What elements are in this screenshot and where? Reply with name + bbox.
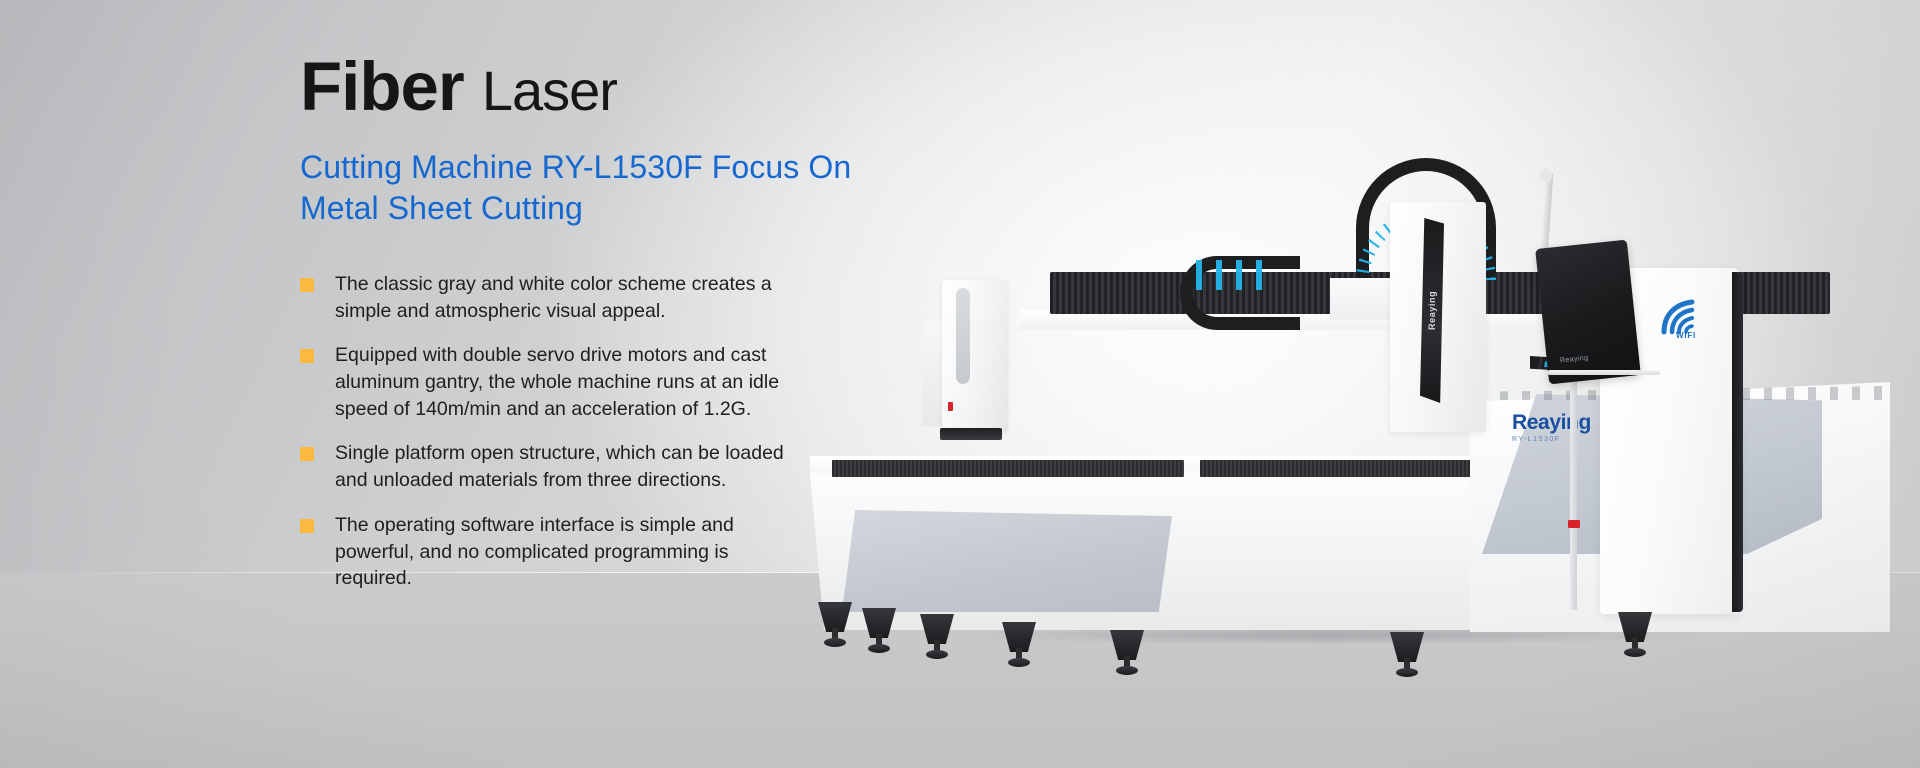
wifi-label: WIFI	[1676, 331, 1696, 340]
page-title: Fiber Laser	[300, 52, 900, 121]
machine-pendant-crossbar	[1548, 370, 1660, 375]
list-item-label: Equipped with double servo drive motors …	[335, 342, 805, 422]
machine-pendant-pole-cap	[1540, 168, 1552, 182]
machine-bellows-cover-left	[1050, 272, 1600, 314]
machine-bed-rail-right	[1200, 460, 1510, 477]
bullet-square-icon	[300, 519, 314, 533]
machine-control-cabinet-edge	[1732, 272, 1743, 612]
machine-foot	[920, 614, 954, 660]
machine-estop-indicator	[1568, 520, 1580, 528]
machine-pendant-arm	[1570, 372, 1577, 610]
bullet-square-icon	[300, 447, 314, 461]
machine-foot	[1110, 630, 1144, 676]
bullet-square-icon	[300, 349, 314, 363]
machine-bed-side-panel	[842, 510, 1172, 612]
product-image-fiber-laser-cutting-machine: Reaying RY-L1530F Reaying	[770, 160, 1850, 630]
machine-foot	[1390, 632, 1424, 678]
title-light: Laser	[482, 59, 617, 122]
machine-foot	[818, 602, 852, 648]
list-item-label: Single platform open structure, which ca…	[335, 440, 805, 493]
machine-tower-brand-text: Reaying	[1418, 265, 1446, 355]
title-bold: Fiber	[300, 48, 464, 125]
machine-foot	[1002, 622, 1036, 668]
list-item-label: The operating software interface is simp…	[335, 512, 805, 592]
machine-foot	[1618, 612, 1652, 658]
machine-drag-chain-middle-links	[1182, 260, 1272, 290]
machine-carriage-base	[940, 428, 1002, 440]
list-item-label: The classic gray and white color scheme …	[335, 271, 805, 324]
banner-stage: Fiber Laser Cutting Machine RY-L1530F Fo…	[0, 0, 1920, 768]
machine-hmi-screen	[1535, 240, 1641, 385]
machine-carriage-indicator	[948, 402, 953, 411]
bullet-square-icon	[300, 278, 314, 292]
machine-carriage-strip	[956, 288, 970, 384]
machine-bed-rail-left	[832, 460, 1184, 477]
machine-foot	[862, 608, 896, 654]
